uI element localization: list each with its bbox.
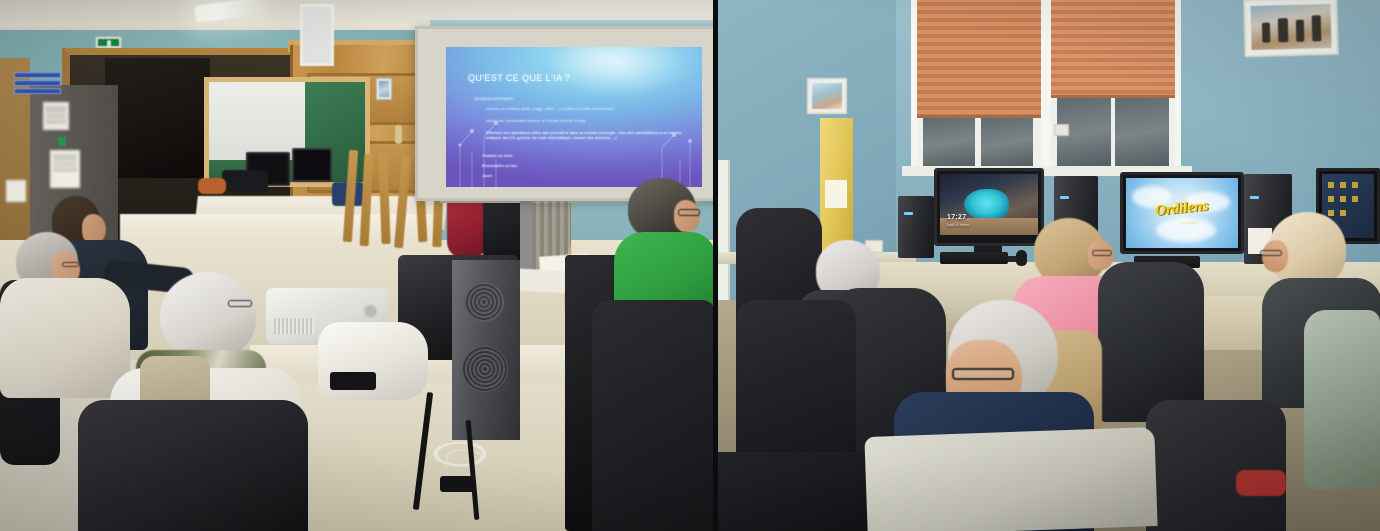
foreground-cloth [864, 427, 1157, 531]
whiteboard-section [209, 82, 305, 160]
black-bag [222, 170, 268, 192]
background-window [300, 4, 334, 66]
projector-lens-icon [363, 304, 378, 319]
column-label [825, 180, 847, 208]
screen-content: Ordilens informatique [1126, 178, 1238, 248]
slide-bullet: Générer un contenu (texte, image, vidéo,… [486, 107, 686, 112]
mouse[interactable] [1016, 250, 1027, 266]
wall-picture [376, 78, 392, 100]
circuit-decoration-icon-2 [650, 117, 698, 187]
green-label-icon [58, 137, 66, 146]
person-woman-cream-sweater [0, 278, 130, 398]
blue-storage-boxes [14, 72, 61, 94]
wall-outlet-icon [1054, 124, 1069, 136]
small-wall-picture [807, 78, 847, 114]
yellow-column-cover [820, 118, 853, 258]
window-blind [1050, 0, 1175, 98]
office-chair-foreground-right [1146, 400, 1286, 531]
projector-vent [274, 318, 314, 334]
slide-bullet: Jouer [482, 174, 492, 179]
slide-bullet: Traduire un texte [482, 154, 513, 159]
eyeglasses-icon [228, 300, 252, 307]
notice-sheet [43, 102, 69, 130]
eyeglasses-icon [1260, 250, 1282, 256]
lock-screen-clock: 17:27 [947, 214, 966, 221]
red-item [1236, 470, 1286, 496]
photo-diptych: QU'EST CE QUE L'IA ? Quelques exemples :… [0, 0, 1380, 531]
projected-slide: QU'EST CE QUE L'IA ? Quelques exemples :… [446, 47, 702, 187]
door-handle-icon [395, 125, 402, 144]
person-face [1262, 240, 1288, 272]
slide-lead: Quelques exemples : [474, 96, 515, 101]
office-chair [592, 300, 716, 531]
screen-content: 17:27 lundi 19 février [940, 174, 1038, 240]
left-photo-panel: QU'EST CE QUE L'IA ? Quelques exemples :… [0, 0, 716, 531]
power-adapter [440, 476, 474, 492]
monitor-lock-screen: 17:27 lundi 19 février [934, 168, 1044, 246]
eyeglasses-icon [678, 209, 700, 216]
panel-divider [713, 0, 718, 531]
window-pane [1115, 98, 1169, 168]
fan-grille-icon [464, 282, 504, 322]
framed-classroom-photo [1243, 0, 1338, 57]
monitor-ordilens: Ordilens informatique [1120, 172, 1244, 254]
fan-grille-icon [462, 346, 508, 392]
open-door-dark [105, 58, 210, 178]
person-head [160, 272, 256, 360]
paper-sheet [6, 180, 26, 202]
window-mullion [1041, 0, 1051, 172]
slide-bullet: Mener une conversation comme un humain (… [486, 119, 676, 124]
orange-bag [198, 178, 226, 194]
eyeglasses-icon [1092, 250, 1112, 256]
slide-bullet: Effectuer des opérations telles que pour… [486, 131, 691, 141]
keyboard[interactable] [940, 252, 1008, 264]
wallpaper-cave [964, 189, 1009, 221]
taskbar[interactable] [940, 235, 1038, 240]
green-bag [1304, 310, 1380, 490]
slide-title: QU'EST CE QUE L'IA ? [468, 73, 570, 83]
window-pane [981, 118, 1033, 168]
power-adapter [330, 372, 376, 390]
office-chair-foreground-left [736, 300, 856, 470]
office-chair-foreground [78, 400, 308, 531]
projection-screen-frame: QU'EST CE QUE L'IA ? Quelques exemples :… [415, 26, 716, 201]
eyeglasses-icon [952, 368, 1014, 380]
person-face [674, 200, 700, 232]
notice-sheet [50, 150, 80, 188]
window-blind [917, 0, 1045, 118]
window [911, 0, 1181, 172]
eyeglasses-icon [62, 262, 79, 267]
right-photo-panel: 17:27 lundi 19 février Ordilens informat… [716, 0, 1380, 531]
slide-bullet: Reconnaitre un lieu [482, 164, 517, 169]
window-pane [923, 118, 975, 168]
background-monitor [292, 148, 332, 182]
office-chair [1098, 262, 1204, 422]
screen-stand [520, 201, 532, 279]
pc-tower [898, 196, 934, 258]
lock-screen-date: lundi 19 février [947, 223, 969, 227]
